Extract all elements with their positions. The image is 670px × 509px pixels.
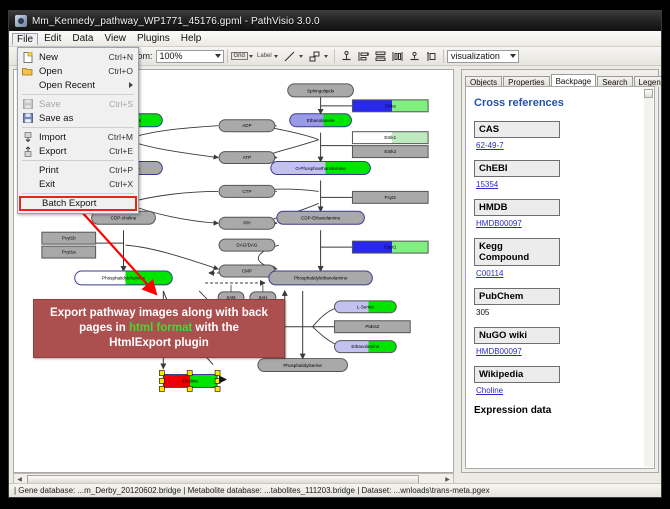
menu-item-batch-export-label: Batch Export (38, 198, 130, 209)
window-title: Mm_Kennedy_pathway_WP1771_45176.gpml - P… (32, 16, 320, 27)
svg-text:Phosphatidylserine: Phosphatidylserine (283, 363, 322, 368)
application-icon (15, 15, 27, 27)
svg-text:Choline: Choline (182, 378, 198, 383)
menu-edit[interactable]: Edit (39, 32, 66, 45)
anchor-tool-icon[interactable] (339, 49, 354, 64)
menu-data[interactable]: Data (67, 32, 98, 45)
field-hmdb: HMDB (474, 199, 560, 216)
node-cmp[interactable]: CMP (219, 265, 275, 277)
menu-item-export-accel: Ctrl+E (109, 146, 138, 156)
svg-text:Pcyt1b: Pcyt1b (62, 236, 76, 241)
status-text: | Gene database: ...m_Derby_20120602.bri… (9, 486, 490, 495)
toolbar-separator (334, 49, 335, 63)
annotation-line-3: HtmlExport plugin (109, 336, 209, 351)
svg-text:Ptdss2: Ptdss2 (365, 324, 379, 329)
svg-text:PPi: PPi (243, 221, 250, 226)
file-menu-dropdown[interactable]: New Ctrl+N Open Ctrl+O Open Recent Save … (17, 47, 139, 214)
import-icon (20, 132, 35, 143)
menu-item-save-accel: Ctrl+S (109, 99, 138, 109)
menu-item-save-label: Save (35, 99, 109, 110)
svg-text:Pcyt1a: Pcyt1a (62, 250, 76, 255)
value-chebi[interactable]: 15354 (476, 180, 646, 189)
screen: Mm_Kennedy_pathway_WP1771_45176.gpml - P… (0, 0, 670, 509)
save-as-icon (20, 113, 35, 123)
chevron-down-icon[interactable] (274, 55, 278, 58)
toolbar-separator (443, 49, 444, 63)
menu-separator (22, 94, 134, 95)
svg-text:CMP: CMP (242, 269, 252, 274)
menu-item-open-accel: Ctrl+O (108, 66, 138, 76)
line-tool-icon[interactable] (282, 49, 297, 64)
vscroll-thumb[interactable] (644, 89, 653, 98)
svg-text:Ethanolamine: Ethanolamine (307, 118, 335, 123)
menu-item-batch-export[interactable]: Batch Export (19, 196, 137, 211)
node-o-phosphoethanolamine[interactable]: O-Phosphoethanolamine (271, 162, 371, 175)
gene-pcyt1b[interactable]: Pcyt1b (42, 232, 96, 244)
backpage-heading: Cross references (474, 97, 646, 109)
svg-text:ATP: ATP (243, 155, 252, 160)
distribute-icon[interactable] (390, 49, 405, 64)
gene-etnk1[interactable]: Etnk1 (352, 132, 428, 144)
chevron-down-icon[interactable] (249, 55, 253, 58)
svg-text:O-Phosphoethanolamine: O-Phosphoethanolamine (295, 166, 346, 171)
menu-item-print[interactable]: Print Ctrl+P (18, 163, 138, 177)
menu-item-open-label: Open (35, 66, 108, 77)
svg-text:Etnk2: Etnk2 (384, 149, 396, 154)
svg-text:Phosphatidylethanolamine: Phosphatidylethanolamine (294, 275, 348, 280)
value-pubchem: 305 (476, 308, 646, 317)
svg-text:CDP-Ethanolamine: CDP-Ethanolamine (301, 216, 341, 221)
backpage-panel: Cross references CAS 62-49-7 ChEBI 15354… (465, 86, 655, 469)
title-bar: Mm_Kennedy_pathway_WP1771_45176.gpml - P… (9, 11, 661, 31)
gene-pcyt1a[interactable]: Pcyt1a (42, 246, 96, 258)
svg-text:Chka: Chka (385, 103, 396, 108)
field-nugo-wiki: NuGO wiki (474, 327, 560, 344)
menu-item-import-accel: Ctrl+M (108, 132, 138, 142)
node-phosphatidylserine[interactable]: Phosphatidylserine (258, 359, 348, 372)
node-ctp[interactable]: CTP (219, 185, 275, 197)
side-panel: Objects Properties Backpage Search Legen… (461, 69, 659, 473)
svg-text:Sphingolipids: Sphingolipids (307, 88, 335, 93)
field-wikipedia: Wikipedia (474, 366, 560, 383)
svg-text:L-Serine: L-Serine (357, 304, 375, 309)
menu-item-open-recent[interactable]: Open Recent (18, 78, 138, 92)
menu-item-save-as-label: Save as (35, 113, 133, 124)
menu-item-export-label: Export (35, 146, 109, 157)
annotation-callout: Export pathway images along with back pa… (33, 299, 285, 358)
expression-data-heading: Expression data (474, 405, 646, 416)
value-cas[interactable]: 62-49-7 (476, 141, 646, 150)
order-icon[interactable] (424, 49, 439, 64)
menu-item-save[interactable]: Save Ctrl+S (18, 97, 138, 111)
toolbar-separator (227, 49, 228, 63)
annotation-line-2: pages in html format with the (79, 321, 239, 336)
chevron-down-icon (510, 54, 516, 58)
node-choline-selected[interactable]: Choline (159, 371, 227, 392)
field-kegg-compound: Kegg Compound (474, 238, 560, 266)
export-icon (20, 146, 35, 157)
node-ethanolamine-2[interactable]: Ethanolamine (335, 341, 397, 353)
grid-toggle-icon[interactable]: Grid (231, 52, 248, 60)
annotation-highlight: html format (129, 322, 192, 334)
backpage-vscrollbar[interactable] (644, 88, 653, 467)
label-tool-icon[interactable]: Label (257, 49, 272, 64)
annotation-line-2a: pages in (79, 322, 129, 334)
side-panel-tabs: Objects Properties Backpage Search Legen… (462, 72, 662, 87)
menu-item-new-label: New (35, 52, 109, 63)
svg-text:Ethanolamine: Ethanolamine (351, 344, 379, 349)
value-nugo-wiki[interactable]: HMDB00097 (476, 347, 646, 356)
chevron-down-icon[interactable] (324, 55, 328, 58)
node-phosphatidylcholines[interactable]: Phosphatidylcholines (75, 271, 173, 285)
menu-item-import-label: Import (35, 132, 108, 143)
field-pubchem: PubChem (474, 288, 560, 305)
svg-text:Cept1: Cept1 (384, 245, 397, 250)
zoom-value: 100% (160, 51, 183, 61)
menu-help[interactable]: Help (176, 32, 207, 45)
status-bar: | Gene database: ...m_Derby_20120602.bri… (9, 483, 661, 497)
menu-item-exit[interactable]: Exit Ctrl+X (18, 177, 138, 191)
menu-item-new[interactable]: New Ctrl+N (18, 50, 138, 64)
visualization-combo[interactable]: visualization (447, 50, 519, 63)
value-kegg-compound[interactable]: C00114 (476, 269, 646, 278)
node-l-serine[interactable]: L-Serine (335, 301, 397, 313)
menu-file[interactable]: File (12, 33, 38, 45)
node-ppi[interactable]: PPi (219, 217, 275, 229)
menu-plugins[interactable]: Plugins (132, 32, 175, 45)
node-phosphatidylethanolamine[interactable]: Phosphatidylethanolamine (269, 271, 373, 285)
align-center-icon[interactable] (373, 49, 388, 64)
menu-item-print-label: Print (35, 165, 109, 176)
gene-pcyt2[interactable]: Pcyt2 (352, 191, 428, 203)
node-dag[interactable]: DAG/DAG (219, 239, 275, 251)
value-hmdb[interactable]: HMDB00097 (476, 219, 646, 228)
svg-text:Etnk1: Etnk1 (384, 135, 396, 140)
menu-item-export[interactable]: Export Ctrl+E (18, 144, 138, 158)
menu-separator (22, 193, 134, 194)
node-cdp-ethanolamine[interactable]: CDP-Ethanolamine (277, 211, 365, 224)
menu-separator (22, 160, 134, 161)
gene-ptdss2[interactable]: Ptdss2 (335, 321, 411, 333)
chevron-down-icon (215, 54, 221, 58)
svg-text:DAG/DAG: DAG/DAG (236, 243, 257, 248)
annotation-line-1: Export pathway images along with back (50, 306, 268, 321)
menu-item-open-recent-label: Open Recent (35, 80, 138, 91)
shape-tool-icon[interactable] (307, 49, 322, 64)
node-ethanolamine[interactable]: Ethanolamine (290, 114, 352, 127)
menu-item-exit-accel: Ctrl+X (109, 179, 138, 189)
svg-text:CDP-choline: CDP-choline (111, 216, 137, 221)
menu-item-new-accel: Ctrl+N (109, 52, 138, 62)
new-file-icon (20, 52, 35, 63)
menu-item-import[interactable]: Import Ctrl+M (18, 130, 138, 144)
field-cas: CAS (474, 121, 560, 138)
svg-text:CTP: CTP (242, 189, 251, 194)
zoom-combo[interactable]: 100% (156, 50, 224, 63)
annotation-line-2b: with the (192, 322, 239, 334)
gene-cept1[interactable]: Cept1 (352, 241, 428, 253)
node-adp[interactable]: ADP (219, 120, 275, 132)
align-left-icon[interactable] (356, 49, 371, 64)
value-wikipedia[interactable]: Choline (476, 386, 646, 395)
svg-text:Phosphatidylcholines: Phosphatidylcholines (102, 275, 146, 280)
node-atp[interactable]: ATP (219, 152, 275, 164)
gene-chka[interactable]: Chka (352, 100, 428, 112)
chevron-right-icon (129, 82, 133, 88)
menu-item-exit-label: Exit (35, 179, 109, 190)
svg-text:Pcyt2: Pcyt2 (385, 195, 397, 200)
chevron-down-icon[interactable] (299, 55, 303, 58)
open-folder-icon (20, 67, 35, 76)
menu-item-print-accel: Ctrl+P (109, 165, 138, 175)
menu-separator (22, 127, 134, 128)
visualization-value: visualization (451, 51, 500, 61)
node-sphingolipids[interactable]: Sphingolipids (288, 84, 354, 97)
group-icon[interactable] (407, 49, 422, 64)
application-window: Mm_Kennedy_pathway_WP1771_45176.gpml - P… (8, 10, 662, 498)
field-chebi: ChEBI (474, 160, 560, 177)
menu-item-save-as[interactable]: Save as (18, 111, 138, 125)
menu-view[interactable]: View (99, 32, 131, 45)
menu-item-open[interactable]: Open Ctrl+O (18, 64, 138, 78)
gene-etnk2[interactable]: Etnk2 (352, 146, 428, 158)
save-disk-icon (20, 99, 35, 109)
svg-text:ADP: ADP (242, 123, 251, 128)
menu-bar: File Edit Data View Plugins Help (9, 31, 661, 47)
